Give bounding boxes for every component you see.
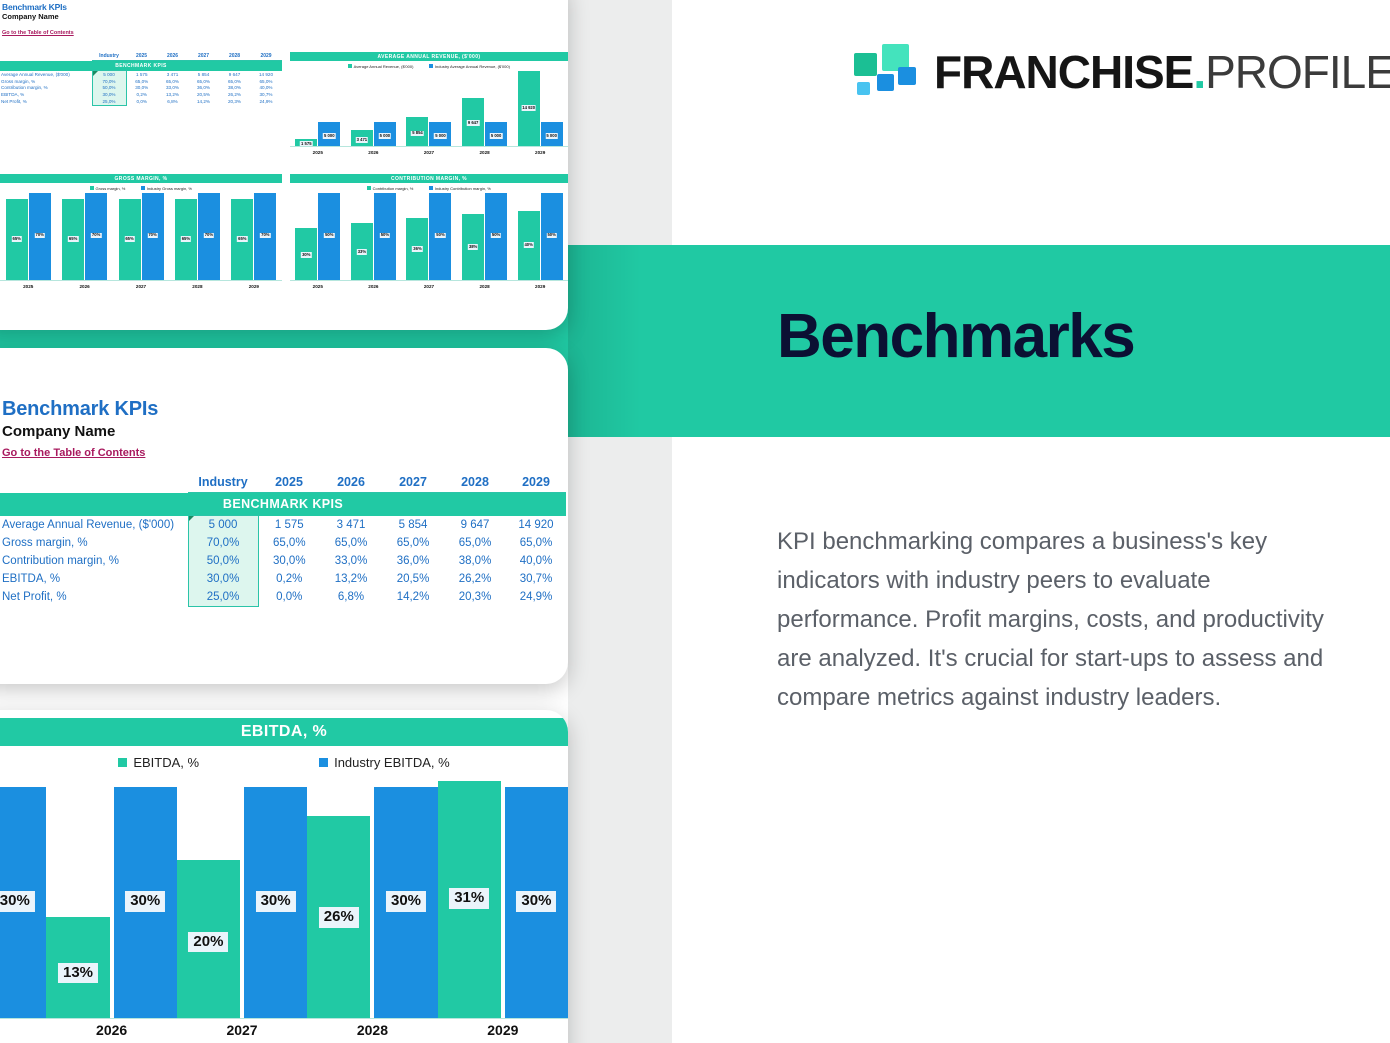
kpi-cell: 40,0% xyxy=(250,85,282,92)
chart-x-axis-labels: 20252026202720282029 xyxy=(290,281,568,289)
chart-group-2026: 65%70% xyxy=(56,193,112,281)
x-tick-label: 2027 xyxy=(401,284,457,289)
chart-title: CONTRIBUTION MARGIN, % xyxy=(290,174,568,183)
chart-legend: EBITDA, %Industry EBITDA, % xyxy=(0,746,568,779)
table-row: Gross margin, % 70,0% 65,0% 65,0% 65,0% … xyxy=(0,534,566,552)
chart-title: GROSS MARGIN, % xyxy=(0,174,282,183)
logo-word-profiles: PROFILES xyxy=(1205,46,1390,98)
chart-data-label: 65% xyxy=(181,236,191,241)
kpi-cell: 20,3% xyxy=(219,98,250,105)
chart-group-2029: 14 9205 000 xyxy=(512,71,568,147)
kpi-col-industry: Industry xyxy=(188,472,258,493)
chart-data-label: 50% xyxy=(491,233,501,238)
kpi-cell: 65,0% xyxy=(320,534,382,552)
chart-data-label: 13% xyxy=(58,963,98,984)
chart-bar: 30% xyxy=(295,228,317,281)
chart-plot-area: 65%70%65%70%65%70%65%70%65%70% xyxy=(0,193,282,281)
chart-plot-area: 1 5755 0003 4715 0005 8545 0009 6475 000… xyxy=(290,71,568,147)
chart-bar: 33% xyxy=(351,223,373,281)
chart-data-label: 26% xyxy=(319,907,359,928)
legend-swatch xyxy=(90,186,94,190)
legend-item: Gross margin, % xyxy=(90,186,125,191)
chart-group-2028: 38%50% xyxy=(457,193,513,281)
kpi-col-2026: 2026 xyxy=(320,472,382,493)
kpi-cell: 65,0% xyxy=(382,534,444,552)
kpi-col-2027: 2027 xyxy=(188,52,219,61)
kpi-col-2028: 2028 xyxy=(219,52,250,61)
legend-label: Industry Contribution margin, % xyxy=(435,186,491,191)
chart-data-label: 38% xyxy=(468,244,478,249)
chart-bar: 70% xyxy=(198,193,220,281)
kpi-cell: 36,0% xyxy=(382,552,444,570)
kpi-col-2029: 2029 xyxy=(250,52,282,61)
chart-bar: 5 000 xyxy=(485,122,507,147)
kpi-row-label: Gross margin, % xyxy=(0,534,188,552)
chart-bar: 36% xyxy=(406,218,428,281)
legend-swatch xyxy=(429,186,433,190)
chart-bar: 3 471 xyxy=(351,130,373,148)
sheet-title: Benchmark KPIs xyxy=(2,398,158,421)
chart-legend: Contribution margin, %Industry Contribut… xyxy=(290,183,568,193)
x-tick-label: 2026 xyxy=(346,150,402,155)
page-title: Benchmarks xyxy=(777,306,1134,368)
chart-legend: Average Annual Revenue, ($'000)Industry … xyxy=(290,61,568,71)
logo-dot: . xyxy=(1193,46,1205,98)
kpi-industry-cell: 5 000 xyxy=(188,516,258,535)
chart-group-2025: 1 5755 000 xyxy=(290,71,346,147)
kpi-cell: 26,2% xyxy=(444,570,506,588)
chart-bar: 30% xyxy=(374,787,437,1019)
chart-data-label: 50% xyxy=(546,233,556,238)
kpi-industry-cell: 50,0% xyxy=(188,552,258,570)
sheet-subtitle: Company Name xyxy=(2,12,74,21)
chart-title: AVERAGE ANNUAL REVENUE, ($'000) xyxy=(290,52,568,61)
kpi-cell: 30,7% xyxy=(506,570,566,588)
chart-data-label: 40% xyxy=(523,242,533,247)
kpi-col-blank xyxy=(0,52,92,61)
kpi-col-blank xyxy=(0,472,188,493)
chart-bar: 40% xyxy=(518,211,540,281)
chart-bar: 5 000 xyxy=(429,122,451,147)
chart-data-label: 65% xyxy=(124,236,134,241)
kpi-cell: 0,0% xyxy=(258,588,320,607)
x-tick-label: 2028 xyxy=(457,284,513,289)
kpi-cell: 0,2% xyxy=(258,570,320,588)
chart-data-label: 70% xyxy=(91,233,101,238)
kpi-row-label: Contribution margin, % xyxy=(0,85,92,92)
kpi-cell: 5 854 xyxy=(382,516,444,535)
table-of-contents-link[interactable]: Go to the Table of Contents xyxy=(2,447,145,459)
kpi-industry-cell: 70,0% xyxy=(92,78,126,85)
chart-plot-area: 0%30%13%30%20%30%26%30%31%30% xyxy=(0,779,568,1019)
screenshot-card-ebitda: EBITDA, %EBITDA, %Industry EBITDA, %0%30… xyxy=(0,710,568,1043)
x-tick-label: 2029 xyxy=(512,150,568,155)
kpi-cell: 3 471 xyxy=(157,71,188,78)
kpi-cell: 9 647 xyxy=(219,71,250,78)
kpi-cell: 30,0% xyxy=(258,552,320,570)
chart-bar: 70% xyxy=(142,193,164,281)
kpi-cell: 0,0% xyxy=(126,98,157,105)
kpi-cell: 38,0% xyxy=(444,552,506,570)
chart-data-label: 50% xyxy=(435,233,445,238)
chart-group-2025: 0%30% xyxy=(0,779,46,1019)
kpi-cell: 30,7% xyxy=(250,91,282,98)
kpi-industry-cell: 70,0% xyxy=(188,534,258,552)
chart-data-label: 31% xyxy=(449,888,489,909)
legend-swatch xyxy=(429,64,433,68)
sheet-subtitle: Company Name xyxy=(2,423,158,440)
chart-x-axis-labels: 20252026202720282029 xyxy=(0,281,282,289)
chart-bar: 50% xyxy=(318,193,340,281)
table-row: Average Annual Revenue, ($'000) 5 000 1 … xyxy=(0,71,282,78)
chart-group-2029: 65%70% xyxy=(226,193,282,281)
table-row: Average Annual Revenue, ($'000) 5 000 1 … xyxy=(0,516,566,535)
kpi-row-label: EBITDA, % xyxy=(0,91,92,98)
kpi-table-big-wrap: BENCHMARK KPIS Industry 2025 2026 2027 2… xyxy=(0,472,566,607)
legend-label: Industry Average Annual Revenue, ($'000) xyxy=(435,64,510,69)
kpi-cell: 40,0% xyxy=(506,552,566,570)
sheet-header-mini: Benchmark KPIs Company Name Go to the Ta… xyxy=(2,2,74,39)
kpi-cell: 14,2% xyxy=(382,588,444,607)
kpi-table-banner: BENCHMARK KPIS xyxy=(0,493,566,516)
chart-bar: 70% xyxy=(29,193,51,281)
legend-item: Average Annual Revenue, ($'000) xyxy=(348,64,413,69)
screenshot-card-dashboard: Benchmark KPIs Company Name Go to the Ta… xyxy=(0,0,568,330)
kpi-row-label: Net Profit, % xyxy=(0,588,188,607)
table-row: Contribution margin, % 50,0% 30,0% 33,0%… xyxy=(0,85,282,92)
x-tick-label: 2028 xyxy=(169,284,225,289)
background-gray-band xyxy=(568,0,672,1043)
legend-item: Industry Gross margin, % xyxy=(141,186,192,191)
chart-group-2026: 13%30% xyxy=(46,779,176,1019)
chart-bar: 50% xyxy=(429,193,451,281)
kpi-row-label: EBITDA, % xyxy=(0,570,188,588)
legend-label: Average Annual Revenue, ($'000) xyxy=(354,64,414,69)
chart-bar: 50% xyxy=(541,193,563,281)
kpi-cell: 36,0% xyxy=(188,85,219,92)
kpi-industry-cell: 25,0% xyxy=(188,588,258,607)
kpi-col-industry: Industry xyxy=(92,52,126,61)
kpi-row-label: Net Profit, % xyxy=(0,98,92,105)
x-tick-label: 2028 xyxy=(457,150,513,155)
x-tick-label: 2029 xyxy=(438,1022,568,1038)
chart-group-2027: 65%70% xyxy=(113,193,169,281)
kpi-cell: 1 575 xyxy=(258,516,320,535)
chart-average-annual-revenue: AVERAGE ANNUAL REVENUE, ($'000)Average A… xyxy=(290,52,568,172)
chart-data-label: 5 000 xyxy=(545,133,557,138)
chart-data-label: 50% xyxy=(380,233,390,238)
chart-data-label: 9 647 xyxy=(467,120,479,125)
chart-bar: 30% xyxy=(244,787,307,1019)
kpi-industry-cell: 30,0% xyxy=(188,570,258,588)
chart-data-label: 36% xyxy=(412,246,422,251)
kpi-cell: 20,5% xyxy=(382,570,444,588)
chart-x-axis-labels: 20252026202720282029 xyxy=(290,147,568,155)
chart-contribution-margin: CONTRIBUTION MARGIN, %Contribution margi… xyxy=(290,174,568,308)
chart-data-label: 65% xyxy=(68,236,78,241)
kpi-body-big: Average Annual Revenue, ($'000) 5 000 1 … xyxy=(0,516,566,607)
x-tick-label: 2027 xyxy=(177,1022,307,1038)
kpi-col-2027: 2027 xyxy=(382,472,444,493)
kpi-cell: 6,8% xyxy=(320,588,382,607)
chart-data-label: 20% xyxy=(188,932,228,953)
chart-bar: 70% xyxy=(85,193,107,281)
chart-bar: 30% xyxy=(0,787,46,1019)
chart-data-label: 14 920 xyxy=(521,105,536,110)
chart-data-label: 3 471 xyxy=(356,137,368,142)
kpi-cell: 14 920 xyxy=(506,516,566,535)
chart-data-label: 30% xyxy=(386,891,426,912)
kpi-col-2025: 2025 xyxy=(258,472,320,493)
chart-gross-margin: GROSS MARGIN, %Gross margin, %Industry G… xyxy=(0,174,282,308)
chart-data-label: 30% xyxy=(0,891,35,912)
chart-bar: 13% xyxy=(46,917,109,1019)
kpi-cell: 24,9% xyxy=(506,588,566,607)
kpi-cell: 30,0% xyxy=(126,85,157,92)
kpi-cell: 5 854 xyxy=(188,71,219,78)
chart-group-2028: 65%70% xyxy=(169,193,225,281)
x-tick-label: 2029 xyxy=(226,284,282,289)
chart-group-2025: 30%50% xyxy=(290,193,346,281)
kpi-cell: 14 920 xyxy=(250,71,282,78)
chart-data-label: 30% xyxy=(125,891,165,912)
chart-data-label: 70% xyxy=(260,233,270,238)
kpi-cell: 65,0% xyxy=(250,78,282,85)
chart-ebitda: EBITDA, %EBITDA, %Industry EBITDA, %0%30… xyxy=(0,718,568,1043)
kpi-cell: 65,0% xyxy=(444,534,506,552)
kpi-cell: 33,0% xyxy=(157,85,188,92)
cell-corner-marker xyxy=(189,516,194,521)
chart-title: EBITDA, % xyxy=(0,718,568,746)
table-row: Net Profit, % 25,0% 0,0% 6,8% 14,2% 20,3… xyxy=(0,98,282,105)
chart-bar: 30% xyxy=(114,787,177,1019)
chart-bar: 9 647 xyxy=(462,98,484,147)
chart-data-label: 65% xyxy=(12,236,22,241)
teal-band-shadow xyxy=(568,245,672,437)
screenshot-card-kpi-table: Benchmark KPIs Company Name Go to the Ta… xyxy=(0,348,568,684)
chart-data-label: 30% xyxy=(256,891,296,912)
kpi-cell: 65,0% xyxy=(126,78,157,85)
logo-word-franchise: FRANCHISE xyxy=(934,46,1193,98)
x-tick-label: 2025 xyxy=(290,150,346,155)
chart-bar: 65% xyxy=(119,199,141,281)
kpi-col-2028: 2028 xyxy=(444,472,506,493)
kpi-table-big: BENCHMARK KPIS Industry 2025 2026 2027 2… xyxy=(0,472,566,607)
kpi-industry-cell: 5 000 xyxy=(92,71,126,78)
kpi-col-2025: 2025 xyxy=(126,52,157,61)
kpi-cell: 65,0% xyxy=(258,534,320,552)
sheet-title: Benchmark KPIs xyxy=(2,2,74,12)
chart-data-label: 70% xyxy=(147,233,157,238)
chart-bar: 5 000 xyxy=(374,122,396,147)
kpi-cell: 65,0% xyxy=(219,78,250,85)
chart-bar: 65% xyxy=(6,199,28,281)
chart-bar: 30% xyxy=(505,787,568,1019)
kpi-row-label: Average Annual Revenue, ($'000) xyxy=(0,516,188,535)
chart-bar: 14 920 xyxy=(518,71,540,147)
kpi-col-2026: 2026 xyxy=(157,52,188,61)
legend-label: Gross margin, % xyxy=(96,186,126,191)
chart-group-2025: 65%70% xyxy=(0,193,56,281)
x-tick-label: 2025 xyxy=(290,284,346,289)
kpi-cell: 65,0% xyxy=(157,78,188,85)
logo-squares-icon xyxy=(852,44,918,100)
chart-data-label: 5 000 xyxy=(323,133,335,138)
legend-swatch xyxy=(118,758,127,767)
x-tick-label: 2027 xyxy=(401,150,457,155)
kpi-cell: 20,5% xyxy=(188,91,219,98)
x-tick-label: 2029 xyxy=(512,284,568,289)
kpi-row-label: Gross margin, % xyxy=(0,78,92,85)
legend-item: EBITDA, % xyxy=(118,755,199,770)
kpi-cell: 33,0% xyxy=(320,552,382,570)
kpi-table-mini-wrap: BENCHMARK KPIS Industry 2025 2026 2027 2… xyxy=(0,52,282,106)
chart-data-label: 5 000 xyxy=(434,133,446,138)
kpi-cell: 24,9% xyxy=(250,98,282,105)
legend-swatch xyxy=(367,186,371,190)
x-tick-label: 2026 xyxy=(56,284,112,289)
chart-data-label: 33% xyxy=(357,249,367,254)
chart-data-label: 30% xyxy=(516,891,556,912)
legend-item: Industry Average Annual Revenue, ($'000) xyxy=(429,64,509,69)
kpi-cell: 6,8% xyxy=(157,98,188,105)
x-tick-label: 2025 xyxy=(0,284,56,289)
chart-bar: 70% xyxy=(254,193,276,281)
legend-label: EBITDA, % xyxy=(133,755,199,770)
legend-item: Industry EBITDA, % xyxy=(319,755,450,770)
kpi-cell: 26,2% xyxy=(219,91,250,98)
kpi-industry-cell: 25,0% xyxy=(92,98,126,105)
kpi-cell: 13,2% xyxy=(157,91,188,98)
kpi-cell: 38,0% xyxy=(219,85,250,92)
chart-data-label: 5 854 xyxy=(411,131,423,136)
table-of-contents-link[interactable]: Go to the Table of Contents xyxy=(2,30,74,36)
chart-group-2029: 31%30% xyxy=(438,779,568,1019)
chart-group-2029: 40%50% xyxy=(512,193,568,281)
chart-legend: Gross margin, %Industry Gross margin, % xyxy=(0,183,282,193)
chart-bar: 20% xyxy=(177,860,240,1019)
chart-data-label: 30% xyxy=(301,252,311,257)
chart-group-2027: 5 8545 000 xyxy=(401,71,457,147)
kpi-row-label: Contribution margin, % xyxy=(0,552,188,570)
kpi-header-row: Industry 2025 2026 2027 2028 2029 xyxy=(0,472,566,493)
kpi-cell: 20,3% xyxy=(444,588,506,607)
chart-group-2026: 33%50% xyxy=(346,193,402,281)
legend-item: Industry Contribution margin, % xyxy=(429,186,491,191)
chart-data-label: 5 000 xyxy=(490,133,502,138)
chart-plot-area: 30%50%33%50%36%50%38%50%40%50% xyxy=(290,193,568,281)
page-description: KPI benchmarking compares a business's k… xyxy=(777,523,1357,717)
cell-corner-marker xyxy=(93,71,98,76)
kpi-cell: 13,2% xyxy=(320,570,382,588)
chart-data-label: 70% xyxy=(204,233,214,238)
chart-group-2028: 9 6475 000 xyxy=(457,71,513,147)
chart-group-2027: 36%50% xyxy=(401,193,457,281)
kpi-cell: 3 471 xyxy=(320,516,382,535)
x-tick-label: 2026 xyxy=(346,284,402,289)
table-row: EBITDA, % 30,0% 0,2% 13,2% 20,5% 26,2% 3… xyxy=(0,91,282,98)
table-row: Contribution margin, % 50,0% 30,0% 33,0%… xyxy=(0,552,566,570)
legend-label: Industry EBITDA, % xyxy=(334,755,450,770)
legend-swatch xyxy=(319,758,328,767)
kpi-table-mini: BENCHMARK KPIS Industry 2025 2026 2027 2… xyxy=(0,52,282,106)
kpi-header-row: Industry 2025 2026 2027 2028 2029 xyxy=(0,52,282,61)
chart-bar: 65% xyxy=(175,199,197,281)
kpi-row-label: Average Annual Revenue, ($'000) xyxy=(0,71,92,78)
kpi-cell: 65,0% xyxy=(506,534,566,552)
kpi-industry-cell: 50,0% xyxy=(92,85,126,92)
chart-bar: 65% xyxy=(231,199,253,281)
kpi-cell: 0,2% xyxy=(126,91,157,98)
chart-bar: 5 854 xyxy=(406,117,428,147)
kpi-industry-cell: 30,0% xyxy=(92,91,126,98)
sheet-header-big: Benchmark KPIs Company Name Go to the Ta… xyxy=(2,398,158,461)
kpi-cell: 1 575 xyxy=(126,71,157,78)
slide-canvas: Benchmark KPIs Company Name Go to the Ta… xyxy=(0,0,1390,1043)
chart-bar: 65% xyxy=(62,199,84,281)
chart-bar: 26% xyxy=(307,816,370,1019)
kpi-cell: 14,2% xyxy=(188,98,219,105)
chart-group-2028: 26%30% xyxy=(307,779,437,1019)
kpi-body-mini: Average Annual Revenue, ($'000) 5 000 1 … xyxy=(0,71,282,106)
brand-logo: FRANCHISE.PROFILES xyxy=(852,44,1390,100)
chart-bar: 31% xyxy=(438,781,501,1019)
chart-data-label: 50% xyxy=(324,233,334,238)
kpi-table-banner: BENCHMARK KPIS xyxy=(0,61,282,71)
chart-x-axis-labels: 20252026202720282029 xyxy=(0,1019,568,1038)
chart-group-2026: 3 4715 000 xyxy=(346,71,402,147)
table-row: Net Profit, % 25,0% 0,0% 6,8% 14,2% 20,3… xyxy=(0,588,566,607)
chart-data-label: 70% xyxy=(35,233,45,238)
legend-label: Contribution margin, % xyxy=(373,186,414,191)
chart-bar: 50% xyxy=(374,193,396,281)
legend-item: Contribution margin, % xyxy=(367,186,413,191)
chart-data-label: 5 000 xyxy=(379,133,391,138)
x-tick-label: 2026 xyxy=(46,1022,176,1038)
x-tick-label: 2028 xyxy=(307,1022,437,1038)
legend-swatch xyxy=(141,186,145,190)
chart-bar: 5 000 xyxy=(541,122,563,147)
chart-bar: 50% xyxy=(485,193,507,281)
kpi-cell: 9 647 xyxy=(444,516,506,535)
legend-label: Industry Gross margin, % xyxy=(147,186,192,191)
kpi-cell: 65,0% xyxy=(188,78,219,85)
chart-data-label: 65% xyxy=(237,236,247,241)
x-tick-label: 2025 xyxy=(0,1022,46,1038)
chart-bar: 38% xyxy=(462,214,484,281)
legend-swatch xyxy=(348,64,352,68)
kpi-col-2029: 2029 xyxy=(506,472,566,493)
x-tick-label: 2027 xyxy=(113,284,169,289)
table-row: EBITDA, % 30,0% 0,2% 13,2% 20,5% 26,2% 3… xyxy=(0,570,566,588)
table-row: Gross margin, % 70,0% 65,0% 65,0% 65,0% … xyxy=(0,78,282,85)
chart-bar: 5 000 xyxy=(318,122,340,147)
logo-wordmark: FRANCHISE.PROFILES xyxy=(934,49,1390,95)
chart-group-2027: 20%30% xyxy=(177,779,307,1019)
